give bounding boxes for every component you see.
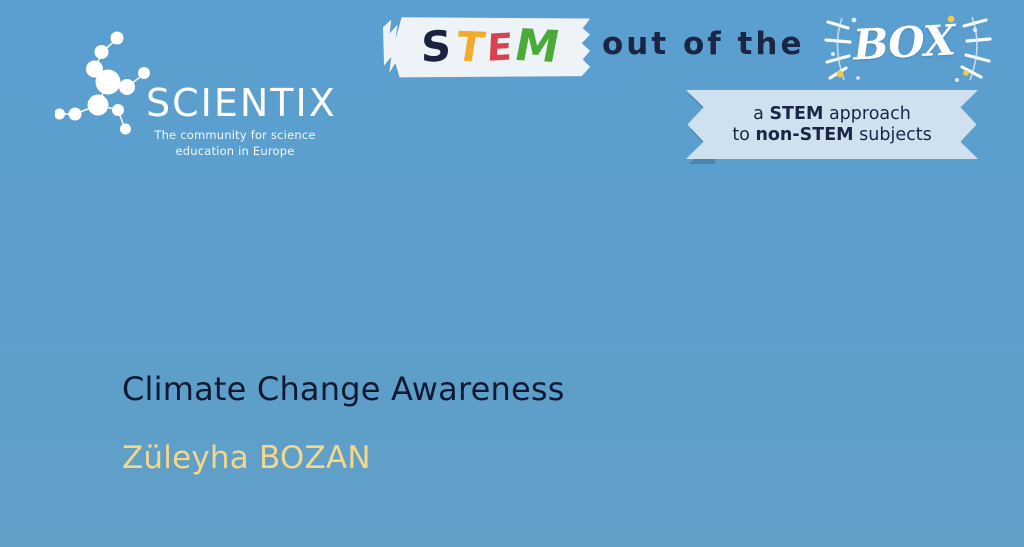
out-of-the-text: out of the xyxy=(602,26,804,62)
stem-letter-m: M xyxy=(511,24,563,70)
stem-letter-t: T xyxy=(452,26,486,68)
molecule-icon xyxy=(55,22,160,142)
stem-letters: S T E M xyxy=(405,18,575,76)
stem-letter-s: S xyxy=(421,25,452,69)
ribbon-line-2-suffix: subjects xyxy=(854,125,932,145)
stem-paper-banner: S T E M xyxy=(383,16,590,78)
scientix-tagline-line-1: The community for science xyxy=(146,128,324,144)
scientix-tagline-line-2: education in Europe xyxy=(146,144,324,160)
ribbon-line-1: a STEM approach xyxy=(753,105,911,123)
slide-author: Züleyha BOZAN xyxy=(122,440,371,476)
scientix-tagline: The community for science education in E… xyxy=(146,128,324,159)
stem-letter-e: E xyxy=(486,28,513,66)
ribbon-line-2-prefix: to xyxy=(732,125,755,145)
ribbon-line-1-suffix: approach xyxy=(823,104,910,124)
ribbon-text: a STEM approach to non-STEM subjects xyxy=(686,90,978,159)
ribbon-line-2-bold: non-STEM xyxy=(755,125,853,145)
ribbon-line-2: to non-STEM subjects xyxy=(732,126,931,144)
box-word: BOX xyxy=(852,15,956,69)
ribbon-line-1-prefix: a xyxy=(753,104,769,124)
stem-approach-ribbon: a STEM approach to non-STEM subjects xyxy=(686,90,984,164)
ribbon-line-1-bold: STEM xyxy=(769,104,823,124)
slide-title: Climate Change Awareness xyxy=(122,370,565,408)
scientix-wordmark: SCIENTIX The community for science educa… xyxy=(146,84,336,159)
scientix-logo: SCIENTIX The community for science educa… xyxy=(55,22,335,167)
presentation-slide: SCIENTIX The community for science educa… xyxy=(0,0,1024,547)
box-word-group: BOX xyxy=(820,10,995,90)
scientix-name: SCIENTIX xyxy=(146,84,336,122)
